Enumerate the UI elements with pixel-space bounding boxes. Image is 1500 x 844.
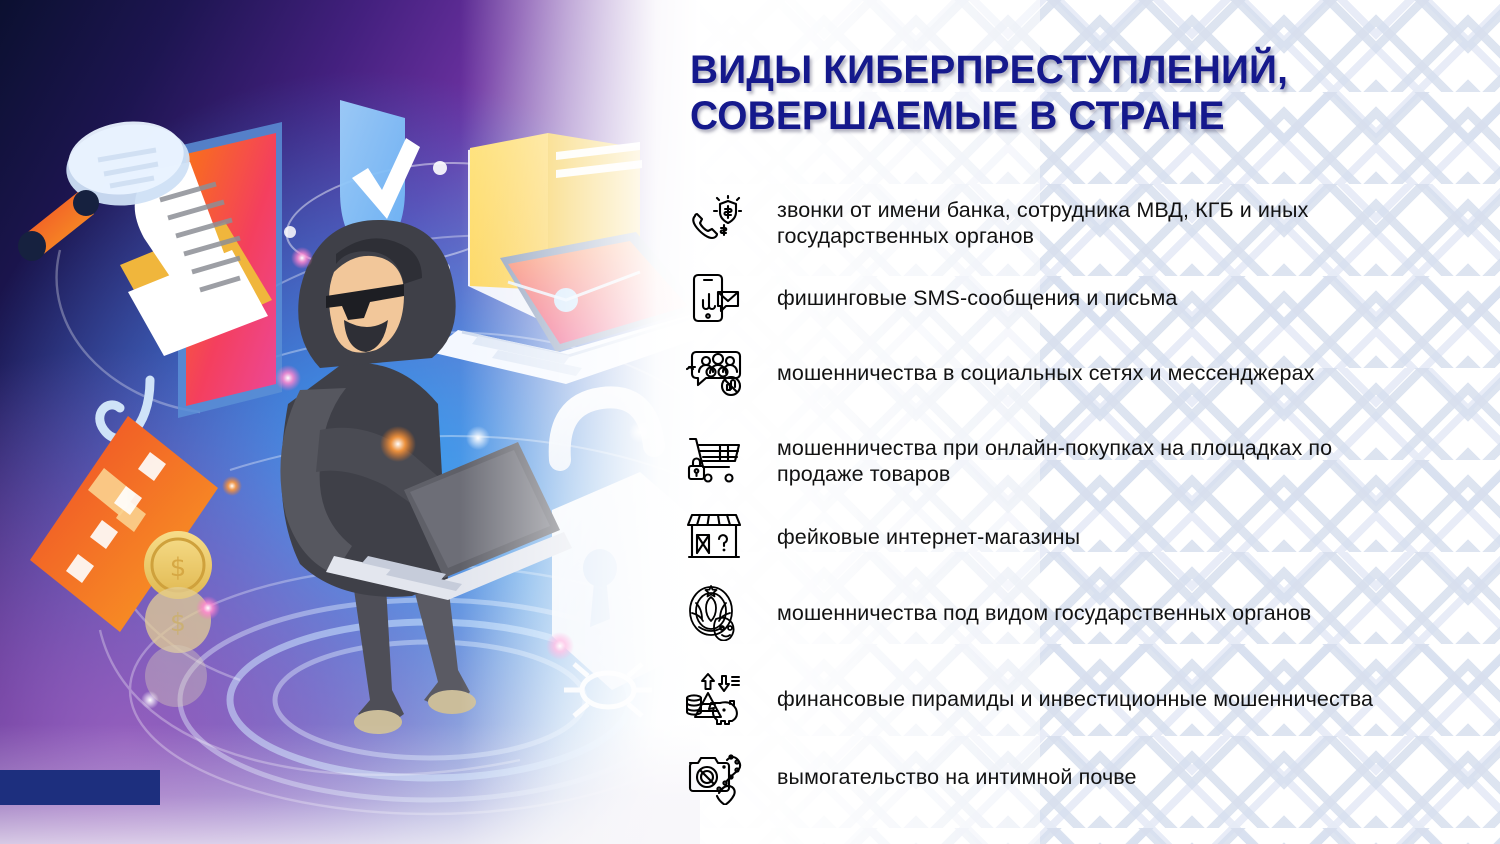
list-item: финансовые пирамиды и инвестиционные мош… [683,658,1483,740]
list-item: фишинговые SMS-сообщения и письма [683,268,1483,328]
list-item: мошенничества при онлайн-покупках на пло… [683,418,1483,504]
page-title-line-1: ВИДЫ КИБЕРПРЕСТУПЛЕНИЙ, [690,48,1456,94]
list-item-label: мошенничества при онлайн-покупках на пло… [777,435,1417,487]
list-item-label: мошенничества в социальных сетях и мессе… [777,360,1315,386]
page-title-line-2: СОВЕРШАЕМЫЕ В СТРАНЕ [690,94,1456,140]
phone-call-money-badge-icon [683,192,745,254]
list-item: мошенничества в социальных сетях и мессе… [683,330,1483,416]
camera-heart-blackmail-icon [683,746,745,808]
coins-icon: $ $ [144,531,212,707]
list-item-label: финансовые пирамиды и инвестиционные мош… [777,686,1373,712]
list-item: мошенничества под видом государственных … [683,570,1483,656]
list-item: вымогательство на интимной почве [683,742,1483,812]
shopping-cart-lock-icon [683,430,745,492]
list-item: звонки от имени банка, сотрудника МВД, К… [683,180,1483,266]
fake-online-store-icon [683,506,745,568]
social-network-chat-group-icon [683,342,745,404]
svg-text:$: $ [170,608,186,637]
smartphone-sms-phishing-icon [683,267,745,329]
illustration-right-fade [460,0,700,844]
list-item-label: мошенничества под видом государственных … [777,600,1311,626]
accent-bar [0,770,160,805]
list-item-label: звонки от имени банка, сотрудника МВД, К… [777,197,1417,249]
financial-pyramid-piggybank-icon [683,668,745,730]
list-item: фейковые интернет-магазины [683,506,1483,568]
cybercrime-illustration: $ $ [0,0,700,844]
cybercrime-type-list: звонки от имени банка, сотрудника МВД, К… [683,180,1483,814]
page-title: ВИДЫ КИБЕРПРЕСТУПЛЕНИЙ, СОВЕРШАЕМЫЕ В СТ… [690,48,1456,139]
svg-text:$: $ [170,553,187,583]
list-item-label: фишинговые SMS-сообщения и письма [777,285,1177,311]
slide-root: $ $ [0,0,1500,844]
list-item-label: фейковые интернет-магазины [777,524,1080,550]
state-emblem-mask-icon [683,582,745,644]
list-item-label: вымогательство на интимной почве [777,764,1137,790]
